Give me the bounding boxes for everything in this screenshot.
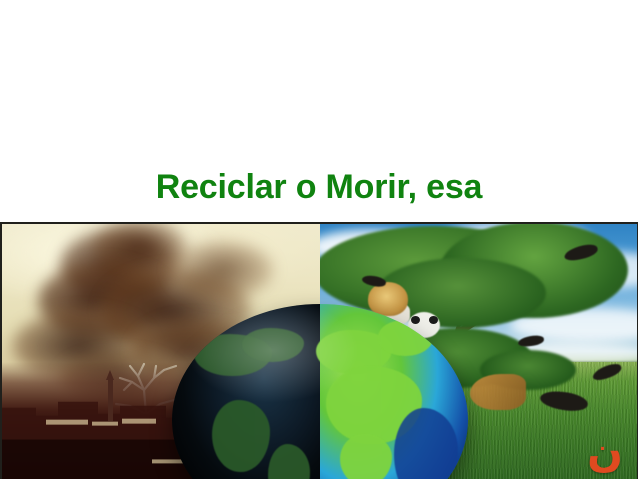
continent-shape	[212, 400, 270, 472]
title-line-1: Reciclar o Morir, esa	[0, 164, 638, 210]
split-globe	[172, 304, 468, 479]
arabic-watermark: ن	[587, 431, 623, 473]
continent-shape	[268, 444, 310, 479]
slide-image: ن	[0, 222, 638, 479]
continent-shape	[340, 434, 392, 479]
continent-shape	[242, 328, 304, 362]
slide-canvas: Reciclar o Morir, esa es la cuestión	[0, 0, 638, 479]
globe-dark-side	[172, 304, 320, 479]
globe-light-side	[320, 304, 468, 479]
smoke-plume-icon	[170, 240, 274, 300]
ocean-shape	[394, 408, 458, 479]
continent-shape	[378, 320, 434, 356]
minaret-icon	[108, 379, 113, 421]
giraffe-icon	[470, 374, 526, 410]
